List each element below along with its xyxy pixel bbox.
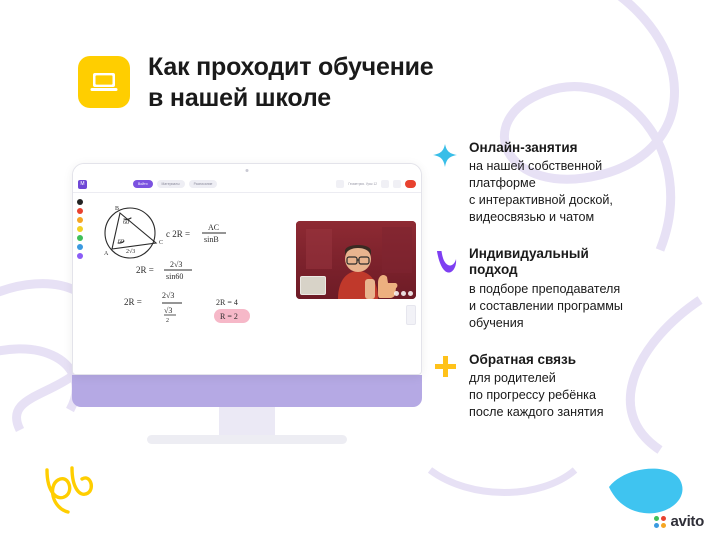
svg-text:A: A (104, 251, 109, 257)
svg-text:2R =: 2R = (136, 265, 154, 275)
feature-line: обучения (469, 315, 700, 332)
avito-watermark: avito (654, 513, 704, 530)
feature-title: Онлайн-занятия (469, 140, 700, 156)
lesson-label: Геометрия. Урок 12 (348, 182, 377, 186)
toolbar-pill-schedule[interactable]: Расписание (189, 180, 218, 188)
side-panel[interactable] (406, 305, 416, 325)
svg-text:√3: √3 (164, 306, 172, 315)
app-toolbar: M Войти Материалы Расписание Геометрия. … (73, 176, 421, 193)
svg-text:60: 60 (118, 239, 124, 245)
feature-line: для родителей (469, 370, 700, 387)
feature-line: платформе (469, 175, 700, 192)
toolbar-mic-icon[interactable] (381, 180, 389, 188)
toolbar-pill-primary[interactable]: Войти (133, 180, 153, 188)
laptop-icon-svg (90, 71, 118, 93)
palette-swatch-green[interactable] (77, 235, 83, 241)
student-video-tile[interactable] (300, 276, 326, 295)
page-header: Как проходит обучение в нашей школе (78, 52, 433, 113)
svg-text:60: 60 (123, 220, 129, 226)
svg-text:AC: AC (208, 223, 219, 232)
video-controls[interactable] (394, 291, 413, 296)
feature-line: с интерактивной доской, (469, 192, 700, 209)
feature-feedback: Обратная связь для родителей по прогресс… (432, 352, 700, 421)
feature-title-line2: подход (469, 262, 700, 278)
svg-text:2√3: 2√3 (126, 248, 135, 255)
feature-line: на нашей собственной (469, 158, 700, 175)
monitor-neck (219, 407, 275, 435)
color-palette[interactable] (73, 193, 86, 375)
monitor-mockup: M Войти Материалы Расписание Геометрия. … (72, 163, 422, 444)
monitor-bezel (73, 164, 421, 176)
feature-online-lessons: Онлайн-занятия на нашей собственной плат… (432, 140, 700, 226)
svg-text:c 2R =: c 2R = (166, 229, 190, 239)
svg-text:B: B (115, 206, 119, 212)
palette-swatch-purple[interactable] (77, 253, 83, 259)
toolbar-cam-icon[interactable] (393, 180, 401, 188)
palette-swatch-orange[interactable] (77, 217, 83, 223)
avito-dots-icon (654, 516, 666, 528)
feature-title-line1: Индивидуальный (469, 246, 700, 262)
svg-text:2R =: 2R = (124, 297, 142, 307)
monitor-base (72, 375, 422, 407)
sparkle-icon (432, 142, 460, 170)
feature-individual-approach: Индивидуальный подход в подборе преподав… (432, 246, 700, 332)
feature-line: видеосвязью и чатом (469, 209, 700, 226)
whiteboard-area: B 60 60 2√3 A C c 2R = AC sinB (73, 193, 421, 375)
feature-line: в подборе преподавателя (469, 281, 700, 298)
palette-swatch-yellow[interactable] (77, 226, 83, 232)
swoosh-icon (432, 248, 460, 276)
svg-text:sinB: sinB (204, 235, 219, 244)
m-logo-icon: M (78, 180, 87, 189)
page-title-line1: Как проходит обучение (148, 52, 433, 83)
svg-text:2√3: 2√3 (162, 291, 174, 300)
palette-swatch-black[interactable] (77, 199, 83, 205)
video-mic-icon[interactable] (394, 291, 399, 296)
feature-list: Онлайн-занятия на нашей собственной плат… (432, 140, 700, 441)
palette-swatch-red[interactable] (77, 208, 83, 214)
teacher-video-tile[interactable] (296, 221, 416, 299)
webcam-dot (246, 169, 249, 172)
svg-text:C: C (159, 240, 163, 246)
page-title: Как проходит обучение в нашей школе (148, 52, 433, 113)
video-more-icon[interactable] (408, 291, 413, 296)
feature-line: после каждого занятия (469, 404, 700, 421)
page-title-line2: в нашей школе (148, 83, 433, 114)
poster-root: Как проходит обучение в нашей школе M Во… (0, 0, 718, 540)
app-screenshot: M Войти Материалы Расписание Геометрия. … (72, 163, 422, 375)
board-canvas[interactable]: B 60 60 2√3 A C c 2R = AC sinB (86, 193, 421, 375)
svg-text:2√3: 2√3 (170, 260, 182, 269)
feature-line: по прогрессу ребёнка (469, 387, 700, 404)
monitor-foot (147, 435, 347, 444)
feature-title: Обратная связь (469, 352, 700, 368)
avito-wordmark: avito (670, 513, 704, 530)
toolbar-pill-materials[interactable]: Материалы (157, 180, 185, 188)
palette-swatch-blue[interactable] (77, 244, 83, 250)
svg-text:sin60: sin60 (166, 272, 183, 281)
video-cam-icon[interactable] (401, 291, 406, 296)
svg-text:R = 2: R = 2 (220, 312, 238, 321)
svg-text:2R = 4: 2R = 4 (216, 298, 238, 307)
svg-text:2: 2 (166, 318, 169, 324)
laptop-icon (78, 56, 130, 108)
end-call-button[interactable] (405, 180, 416, 188)
feature-line: и составлении программы (469, 298, 700, 315)
toolbar-pen-icon[interactable] (336, 180, 344, 188)
plus-icon (432, 354, 460, 382)
